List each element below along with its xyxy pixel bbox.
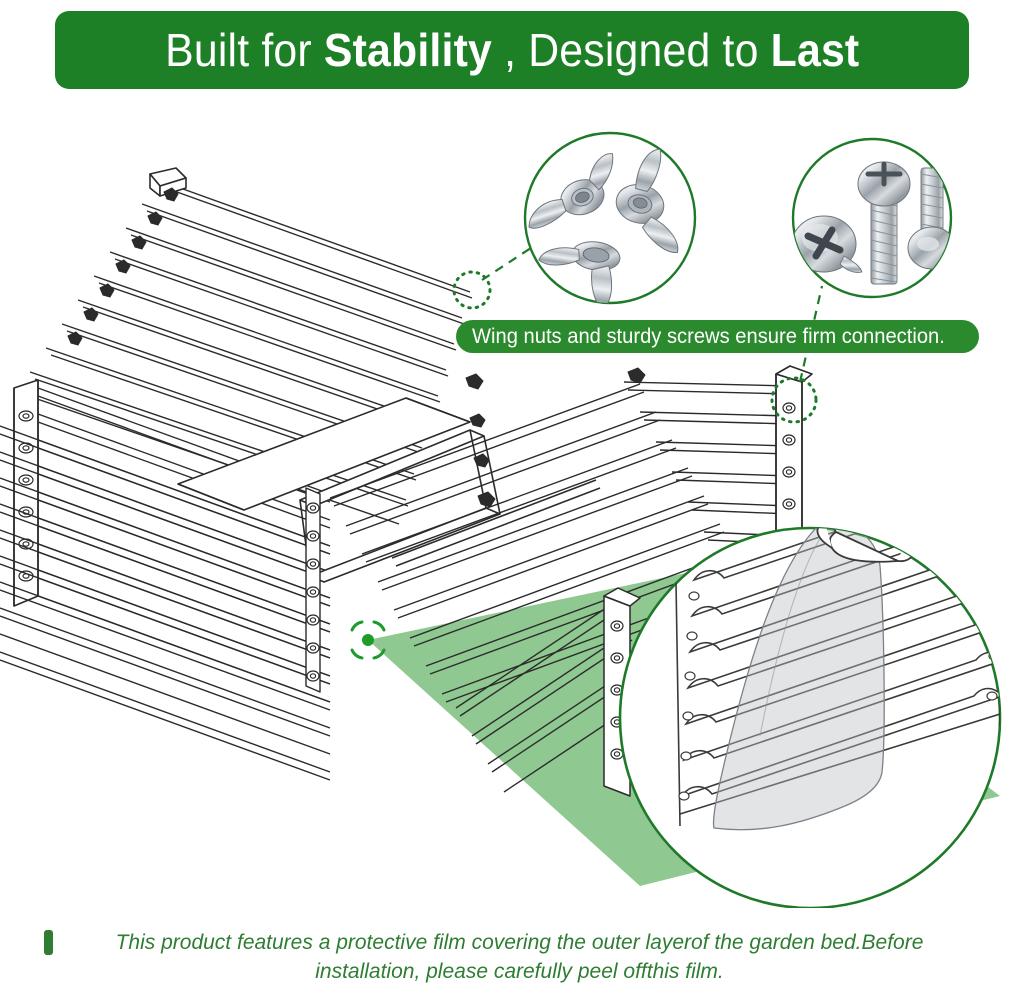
footer-note-text: This product features a protective film … bbox=[53, 928, 984, 986]
wing-nuts-callout bbox=[515, 133, 701, 311]
footer-note: This product features a protective film … bbox=[44, 928, 984, 986]
leader-line-wing-nuts bbox=[482, 246, 534, 280]
infographic-page: Built for Stability , Designed to Last bbox=[0, 0, 1024, 1002]
title-part-1: Built for bbox=[165, 24, 324, 76]
connection-caption-banner: Wing nuts and sturdy screws ensure firm … bbox=[456, 320, 979, 353]
title-part-4-bold: Last bbox=[770, 24, 859, 76]
screws-callout bbox=[792, 139, 956, 297]
connection-caption-text: Wing nuts and sturdy screws ensure firm … bbox=[472, 326, 945, 347]
footer-note-line-1: This product features a protective film … bbox=[55, 928, 984, 957]
illustration-stage bbox=[0, 96, 1024, 908]
title-part-2-bold: Stability bbox=[324, 24, 492, 76]
header-banner: Built for Stability , Designed to Last bbox=[55, 11, 969, 89]
film-peel-callout bbox=[620, 473, 1014, 909]
title-part-3: , Designed to bbox=[492, 24, 771, 76]
hand-icon bbox=[817, 475, 918, 561]
footer-accent-bar bbox=[44, 930, 53, 955]
footer-note-line-2: installation, please carefully peel offt… bbox=[55, 957, 984, 986]
page-title: Built for Stability , Designed to Last bbox=[165, 27, 859, 73]
